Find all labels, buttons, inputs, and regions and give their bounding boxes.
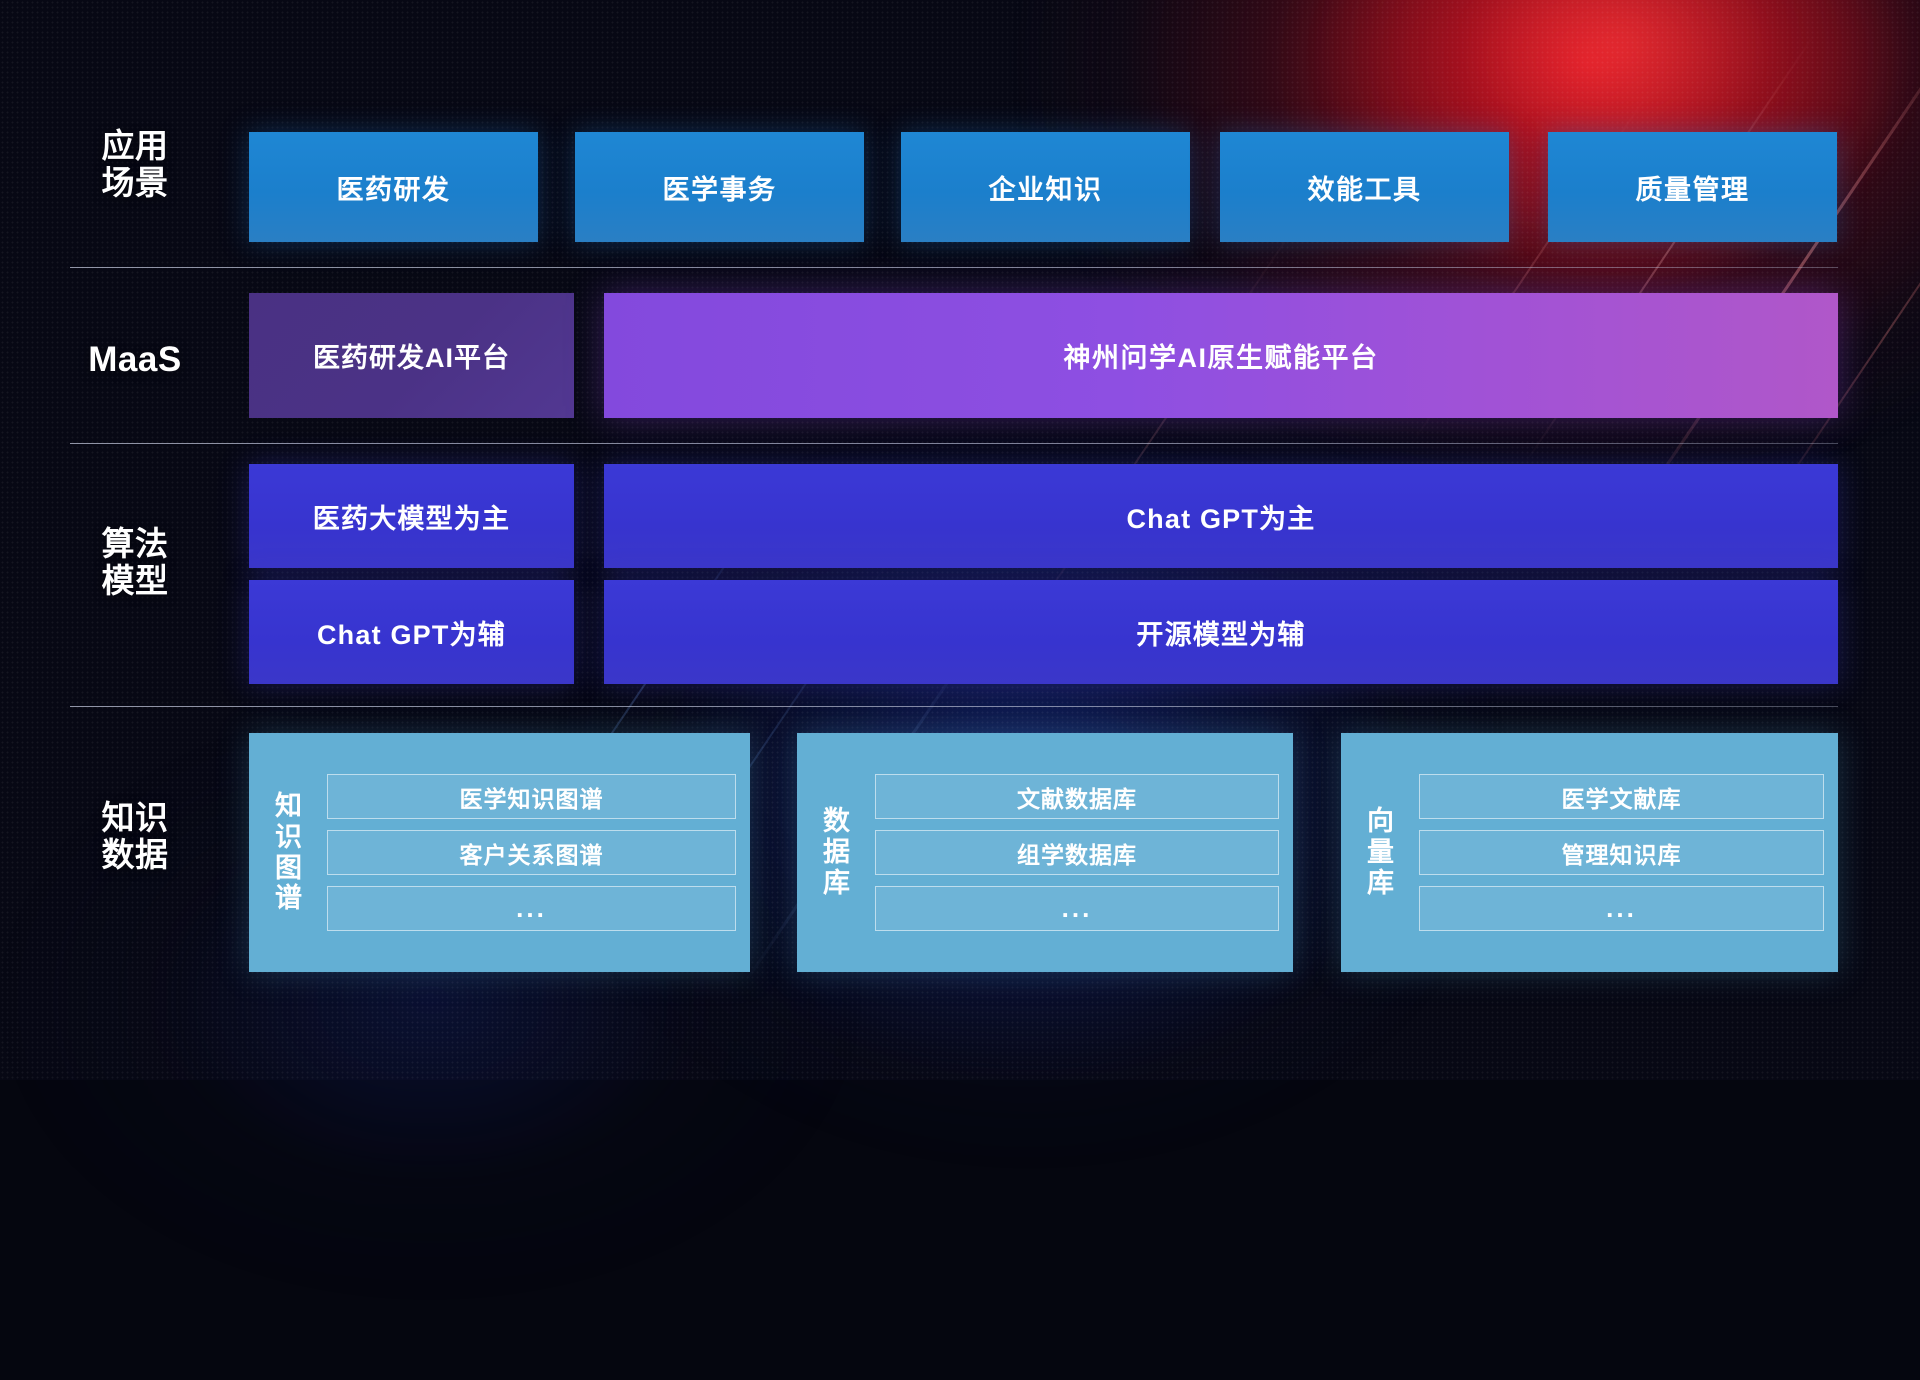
knowledge-panel-title: 向 量 库 xyxy=(1353,747,1409,958)
knowledge-panel-items: 医学知识图谱 客户关系图谱 ... xyxy=(327,747,736,958)
application-box-label: 医药研发 xyxy=(337,168,451,207)
layer-label-algorithm: 算法 模型 xyxy=(70,526,200,600)
knowledge-panel-title-char: 向 xyxy=(1367,806,1395,837)
application-box-label: 企业知识 xyxy=(989,168,1103,207)
knowledge-item-more[interactable]: ... xyxy=(1419,886,1824,931)
application-box-4[interactable]: 效能工具 xyxy=(1220,132,1509,242)
knowledge-panel-database[interactable]: 数 据 库 文献数据库 组学数据库 ... xyxy=(797,733,1293,972)
knowledge-panel-title: 数 据 库 xyxy=(809,747,865,958)
knowledge-panel-title-char: 知 xyxy=(275,791,303,822)
algorithm-box-label: Chat GPT为辅 xyxy=(317,613,506,652)
layer-label-line: 算法 xyxy=(70,526,200,563)
knowledge-panel-title-char: 据 xyxy=(823,837,851,868)
application-box-label: 医学事务 xyxy=(663,168,777,207)
knowledge-panel-items: 医学文献库 管理知识库 ... xyxy=(1419,747,1824,958)
algorithm-box-label: 开源模型为辅 xyxy=(1136,613,1305,652)
algorithm-box-row1-left[interactable]: 医药大模型为主 xyxy=(249,464,574,568)
diagram-stage: 应用 场景 医药研发 医学事务 企业知识 效能工具 质量管理 MaaS 医药研发… xyxy=(0,0,1920,1080)
knowledge-item-more[interactable]: ... xyxy=(875,886,1279,931)
application-box-5[interactable]: 质量管理 xyxy=(1548,132,1837,242)
knowledge-item[interactable]: 医学文献库 xyxy=(1419,774,1824,819)
knowledge-item[interactable]: 组学数据库 xyxy=(875,830,1279,875)
layer-divider-2 xyxy=(70,443,1838,444)
layer-label-maas: MaaS xyxy=(70,340,200,379)
layer-label-line: 模型 xyxy=(70,563,200,600)
knowledge-panel-title-char: 数 xyxy=(823,806,851,837)
layer-label-line: 数据 xyxy=(70,837,200,874)
algorithm-box-row2-left[interactable]: Chat GPT为辅 xyxy=(249,580,574,684)
knowledge-panel-title-char: 图 xyxy=(275,853,303,884)
algorithm-box-row1-right[interactable]: Chat GPT为主 xyxy=(604,464,1838,568)
layer-divider-3 xyxy=(70,706,1838,707)
layer-label-line: MaaS xyxy=(70,340,200,379)
layer-label-line: 应用 xyxy=(70,128,200,165)
algorithm-box-label: 医药大模型为主 xyxy=(313,497,510,536)
layer-label-line: 知识 xyxy=(70,800,200,837)
knowledge-item[interactable]: 医学知识图谱 xyxy=(327,774,736,819)
application-box-3[interactable]: 企业知识 xyxy=(901,132,1190,242)
application-box-1[interactable]: 医药研发 xyxy=(249,132,538,242)
application-box-label: 质量管理 xyxy=(1636,168,1750,207)
knowledge-panel-vector[interactable]: 向 量 库 医学文献库 管理知识库 ... xyxy=(1341,733,1838,972)
knowledge-item-more[interactable]: ... xyxy=(327,886,736,931)
knowledge-item[interactable]: 文献数据库 xyxy=(875,774,1279,819)
layer-label-line: 场景 xyxy=(70,165,200,202)
maas-box-shenzhou-platform[interactable]: 神州问学AI原生赋能平台 xyxy=(604,293,1838,418)
knowledge-panel-items: 文献数据库 组学数据库 ... xyxy=(875,747,1279,958)
layer-label-knowledge: 知识 数据 xyxy=(70,800,200,874)
knowledge-panel-title-char: 库 xyxy=(1367,868,1395,899)
knowledge-item[interactable]: 客户关系图谱 xyxy=(327,830,736,875)
knowledge-panel-graph[interactable]: 知 识 图 谱 医学知识图谱 客户关系图谱 ... xyxy=(249,733,750,972)
knowledge-panel-title-char: 谱 xyxy=(275,883,303,914)
knowledge-panel-title-char: 量 xyxy=(1367,837,1395,868)
maas-box-label: 医药研发AI平台 xyxy=(313,336,510,375)
knowledge-item[interactable]: 管理知识库 xyxy=(1419,830,1824,875)
algorithm-box-label: Chat GPT为主 xyxy=(1126,497,1315,536)
maas-box-medical-platform[interactable]: 医药研发AI平台 xyxy=(249,293,574,418)
application-box-2[interactable]: 医学事务 xyxy=(575,132,864,242)
knowledge-panel-title: 知 识 图 谱 xyxy=(261,747,317,958)
layer-divider-1 xyxy=(70,267,1838,268)
knowledge-panel-title-char: 识 xyxy=(275,822,303,853)
application-box-label: 效能工具 xyxy=(1308,168,1422,207)
maas-box-label: 神州问学AI原生赋能平台 xyxy=(1064,336,1379,375)
knowledge-panel-title-char: 库 xyxy=(823,868,851,899)
algorithm-box-row2-right[interactable]: 开源模型为辅 xyxy=(604,580,1838,684)
layer-label-application: 应用 场景 xyxy=(70,128,200,202)
